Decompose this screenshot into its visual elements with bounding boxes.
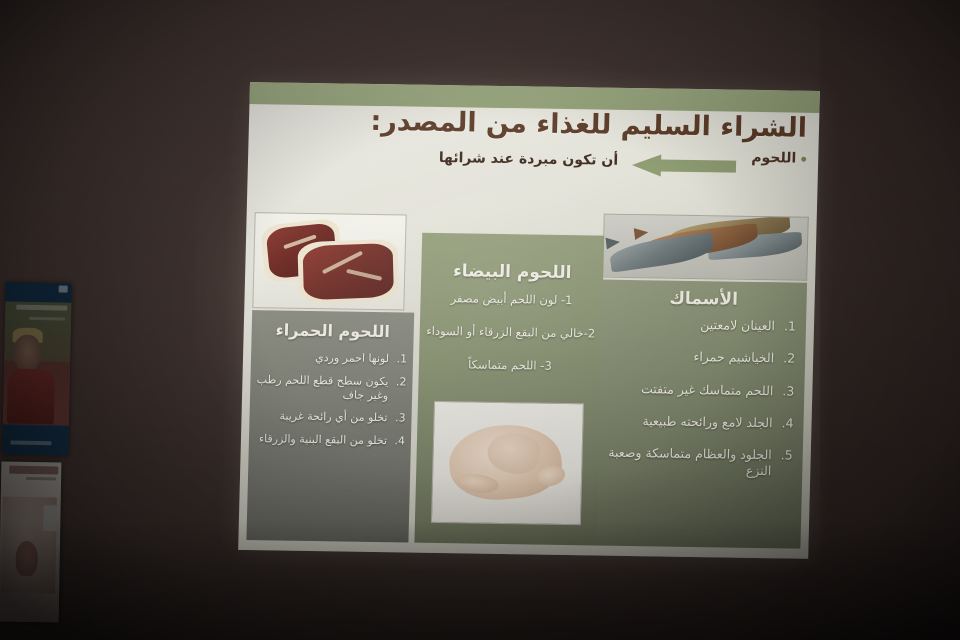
- red-meat-photo: [252, 212, 406, 310]
- list-item: 1. لونها احمر وردي: [257, 350, 407, 366]
- list-item: 2-خالي من البقع الزرقاء أو السوداء: [426, 324, 596, 342]
- health-poster-upper: [2, 282, 72, 455]
- slide-canvas: الشراء السليم للغذاء من المصدر: اللحوم أ…: [238, 82, 820, 559]
- list-item: 4. الجلد لامع ورائحته طبيعية: [605, 412, 793, 431]
- chicken-photo: [431, 401, 584, 525]
- fish-2-tail: [634, 226, 649, 240]
- refrigeration-note: أن تكون مبردة عند شرائها: [418, 150, 618, 169]
- list-item: 3. اللحم متماسك غير متفتت: [606, 380, 794, 399]
- list-item: 2. الخياشيم حمراء: [607, 348, 795, 367]
- poster2-badge: [43, 505, 57, 531]
- poster-logo-icon: [59, 285, 68, 292]
- arrow-head: [632, 154, 662, 176]
- column-red-meat: اللحوم الحمراء 1. لونها احمر وردي 2. يكو…: [246, 310, 414, 542]
- fish-1: [609, 232, 716, 272]
- fish-1-tail: [605, 236, 620, 250]
- health-poster-lower: [0, 461, 61, 622]
- list-item: 4. تخلو من البقع البنية والزرقاء: [255, 432, 405, 448]
- poster2-title-line: [9, 466, 58, 475]
- poster-child-body: [7, 368, 56, 424]
- list-item: 2. يكون سطح قطع اللحم رطب وغير جاف: [256, 373, 407, 403]
- item-number: 4.: [392, 434, 405, 448]
- column-white-meat: اللحوم البيضاء 1- لون اللحم أبيض مصفر 2-…: [414, 233, 604, 546]
- item-number: 2.: [780, 351, 795, 367]
- list-item: 5. الجلود والعظام متماسكة وصعبة النزع: [604, 445, 793, 480]
- item-text: تخلو من أي رائحة غريبة: [255, 409, 387, 425]
- meats-bullet-row: اللحوم أن تكون مبردة عند شرائها: [250, 142, 809, 189]
- item-number: 2.: [393, 375, 407, 403]
- item-number: 4.: [778, 415, 793, 431]
- item-text: يكون سطح قطع اللحم رطب وغير جاف: [256, 373, 389, 403]
- poster2-subtitle-line: [26, 477, 56, 481]
- white-meat-item-list: 1- لون اللحم أبيض مصفر 2-خالي من البقع ا…: [424, 291, 596, 392]
- white-meat-column-title: اللحوم البيضاء: [429, 261, 595, 284]
- item-text: الخياشيم حمراء: [607, 348, 774, 367]
- item-number: 3.: [392, 412, 405, 426]
- room-scene: الشراء السليم للغذاء من المصدر: اللحوم أ…: [0, 0, 960, 640]
- item-text: الجلد لامع ورائحته طبيعية: [605, 412, 772, 431]
- fish-photo: [602, 214, 809, 281]
- fish-column-title: الأسماك: [610, 288, 796, 311]
- arrow-shaft: [660, 159, 736, 172]
- poster-subtitle-line: [29, 317, 65, 321]
- column-fish: الأسماك 1. العينان لامعتين 2. الخياشيم ح…: [595, 214, 808, 549]
- red-meat-item-list: 1. لونها احمر وردي 2. يكون سطح قطع اللحم…: [255, 350, 408, 457]
- item-number: 5.: [777, 447, 793, 480]
- poster-title-line: [16, 305, 68, 311]
- fish-item-list: 1. العينان لامعتين 2. الخياشيم حمراء 3. …: [604, 316, 796, 496]
- poster-footer-text-line: [10, 440, 51, 445]
- item-text: لونها احمر وردي: [257, 350, 389, 366]
- poster2-child-figure: [16, 541, 38, 576]
- arrow-left-icon: [632, 154, 737, 178]
- meats-label: اللحوم: [751, 150, 796, 167]
- wall-right-plane: [820, 0, 960, 640]
- meats-bullet: اللحوم: [751, 150, 806, 167]
- item-text: الجلود والعظام متماسكة وصعبة النزع: [604, 445, 772, 480]
- list-item: 3- اللحم متماسكاً: [425, 357, 595, 375]
- list-item: 1- لون اللحم أبيض مصفر: [426, 291, 596, 309]
- bullet-dot-icon: [801, 156, 806, 161]
- item-number: 1.: [781, 318, 796, 334]
- item-text: اللحم متماسك غير متفتت: [606, 380, 773, 399]
- poster-child-face: [13, 334, 42, 372]
- item-number: 1.: [394, 352, 407, 366]
- list-item: 3. تخلو من أي رائحة غريبة: [255, 409, 405, 425]
- list-item: 1. العينان لامعتين: [608, 316, 796, 335]
- item-number: 3.: [779, 383, 794, 399]
- projected-slide: الشراء السليم للغذاء من المصدر: اللحوم أ…: [238, 82, 820, 559]
- fish-panel: الأسماك 1. العينان لامعتين 2. الخياشيم ح…: [595, 280, 807, 549]
- item-text: تخلو من البقع البنية والزرقاء: [255, 432, 387, 448]
- red-meat-column-title: اللحوم الحمراء: [259, 320, 405, 341]
- item-text: العينان لامعتين: [608, 316, 775, 335]
